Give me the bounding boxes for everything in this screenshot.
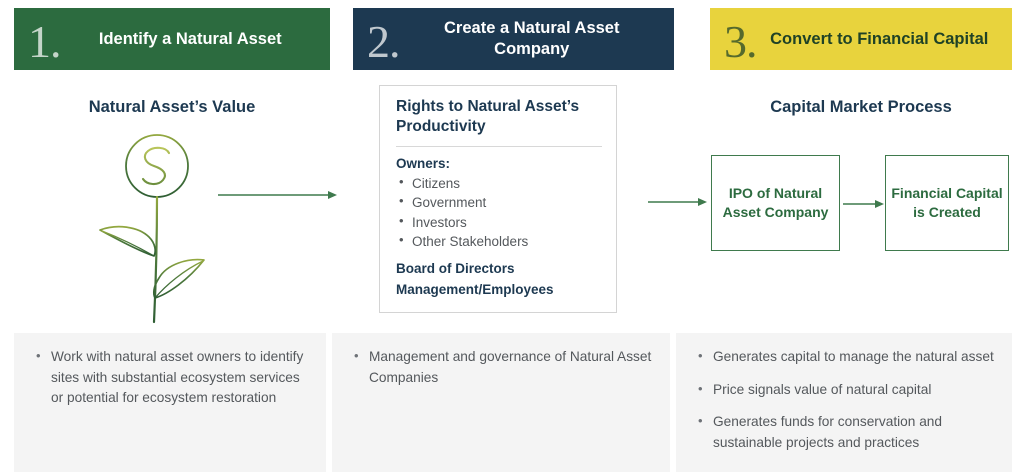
- bullet-list: Work with natural asset owners to identi…: [32, 347, 310, 409]
- financial-capital-box: Financial Capital is Created: [885, 155, 1009, 251]
- list-item: Management and governance of Natural Ass…: [350, 347, 654, 388]
- management-employees-label: Management/Employees: [396, 280, 602, 301]
- arrow-step1-to-step2-icon: [218, 188, 338, 202]
- list-item: Generates capital to manage the natural …: [694, 347, 996, 368]
- ipo-box: IPO of Natural Asset Company: [711, 155, 840, 251]
- rights-card-divider: [396, 146, 602, 147]
- list-item: Government: [396, 193, 602, 213]
- list-item: Generates funds for conservation and sus…: [694, 412, 996, 453]
- rights-card-title: Rights to Natural Asset’s Productivity: [396, 97, 602, 137]
- step-title-2: Create a Natural Asset Company: [406, 18, 675, 59]
- step-title-3: Convert to Financial Capital: [763, 29, 1013, 50]
- list-item: Investors: [396, 213, 602, 233]
- dollar-sign-plant-icon: [92, 130, 222, 325]
- list-item: Other Stakeholders: [396, 232, 602, 252]
- list-item: Work with natural asset owners to identi…: [32, 347, 310, 409]
- arrow-step2-to-step3-icon: [648, 195, 708, 209]
- step-numeral-1: 1.: [14, 19, 67, 65]
- bullet-list: Management and governance of Natural Ass…: [350, 347, 654, 388]
- step-header-1: 1. Identify a Natural Asset: [14, 8, 330, 70]
- list-item: Price signals value of natural capital: [694, 380, 996, 401]
- bottom-panel-3: Generates capital to manage the natural …: [676, 333, 1012, 472]
- step-numeral-3: 3.: [710, 19, 763, 65]
- step-numeral-2: 2.: [353, 19, 406, 65]
- bottom-panel-2: Management and governance of Natural Ass…: [332, 333, 670, 472]
- step-header-3: 3. Convert to Financial Capital: [710, 8, 1012, 70]
- diagram-canvas: 1. Identify a Natural Asset 2. Create a …: [0, 0, 1024, 472]
- list-item: Citizens: [396, 174, 602, 194]
- bottom-panel-1: Work with natural asset owners to identi…: [14, 333, 326, 472]
- rights-card: Rights to Natural Asset’s Productivity O…: [379, 85, 617, 313]
- column1-subtitle: Natural Asset’s Value: [14, 98, 330, 117]
- board-of-directors-label: Board of Directors: [396, 259, 602, 280]
- step-title-1: Identify a Natural Asset: [67, 29, 331, 50]
- column3-subtitle: Capital Market Process: [710, 98, 1012, 117]
- step-header-2: 2. Create a Natural Asset Company: [353, 8, 674, 70]
- owners-list: Citizens Government Investors Other Stak…: [396, 174, 602, 252]
- owners-label: Owners:: [396, 156, 602, 171]
- bullet-list: Generates capital to manage the natural …: [694, 347, 996, 453]
- arrow-ipo-to-financial-capital-icon: [843, 197, 885, 211]
